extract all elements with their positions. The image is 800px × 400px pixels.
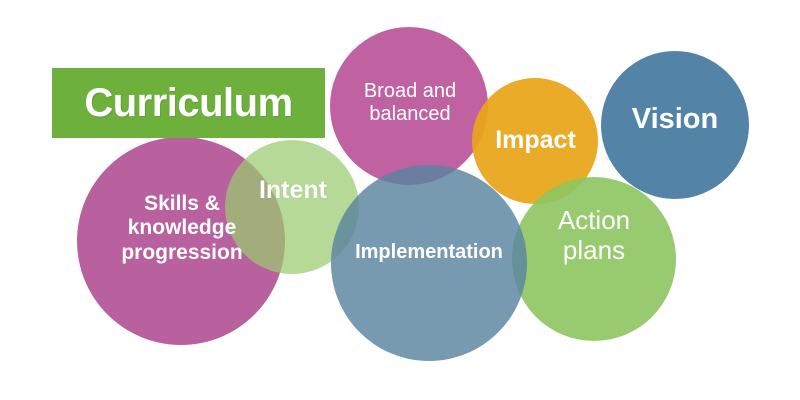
circle-implementation[interactable] bbox=[331, 165, 527, 361]
circle-group-implementation[interactable] bbox=[331, 165, 527, 361]
circle-broad-and-balanced[interactable] bbox=[330, 27, 488, 185]
venn-circles-layer bbox=[0, 0, 800, 400]
curriculum-title-banner: Curriculum bbox=[52, 68, 325, 138]
circle-group-vision[interactable] bbox=[601, 51, 749, 199]
curriculum-title-label: Curriculum bbox=[84, 83, 292, 123]
circle-group-action-plans[interactable] bbox=[512, 177, 676, 341]
circle-group-broad-and-balanced[interactable] bbox=[330, 27, 488, 185]
circle-vision[interactable] bbox=[601, 51, 749, 199]
circle-action-plans[interactable] bbox=[512, 177, 676, 341]
curriculum-venn-diagram: Curriculum Skills & knowledge progressio… bbox=[0, 0, 800, 400]
